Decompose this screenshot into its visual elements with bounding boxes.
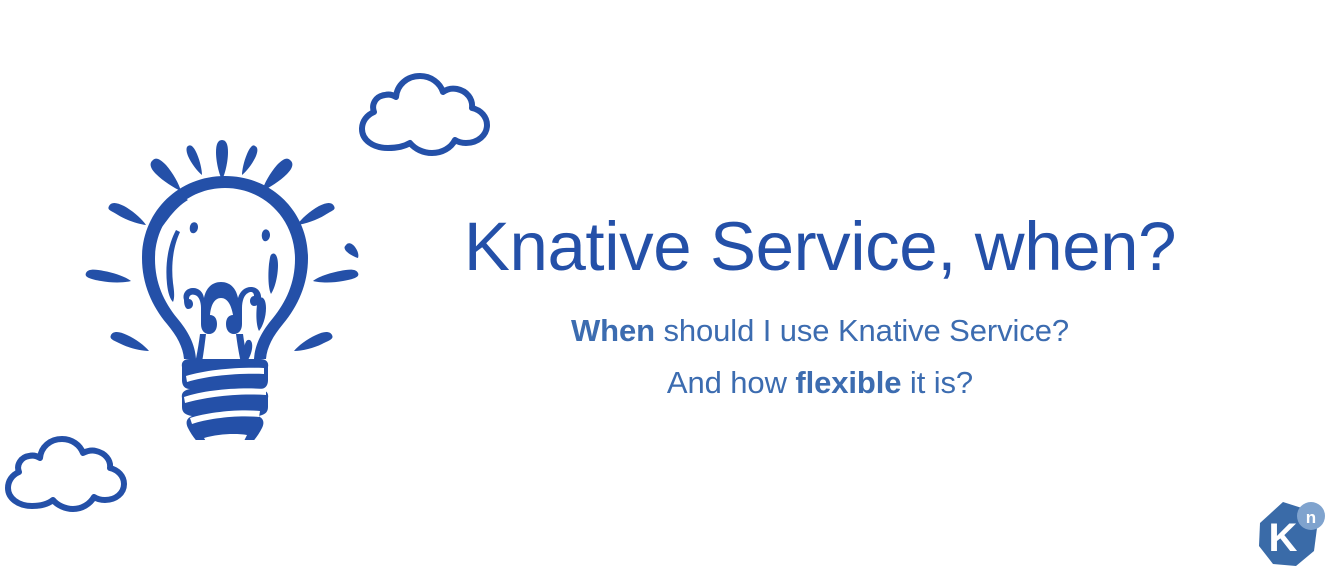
subtitle-line-1: When should I use Knative Service? <box>400 305 1240 357</box>
subtitle-line-2: And how flexible it is? <box>400 357 1240 409</box>
slide-canvas: Knative Service, when? When should I use… <box>0 0 1341 585</box>
page-title: Knative Service, when? <box>400 212 1240 281</box>
subtitle-line-2-lead: And how <box>667 365 795 400</box>
cloud-illustration-top <box>345 52 505 167</box>
subtitle-line-1-emphasis: When <box>571 313 655 348</box>
title-group: Knative Service, when? When should I use… <box>400 212 1240 409</box>
knative-logo: K n <box>1248 498 1332 578</box>
subtitle: When should I use Knative Service? And h… <box>400 305 1240 409</box>
cloud-illustration-bottom <box>0 420 148 522</box>
lightbulb-illustration <box>78 118 374 440</box>
subtitle-line-2-tail: it is? <box>901 365 973 400</box>
subtitle-line-1-rest: should I use Knative Service? <box>655 313 1069 348</box>
subtitle-line-2-emphasis: flexible <box>795 365 901 400</box>
knative-badge-letter: n <box>1306 508 1316 527</box>
knative-mark-letter: K <box>1269 516 1298 560</box>
